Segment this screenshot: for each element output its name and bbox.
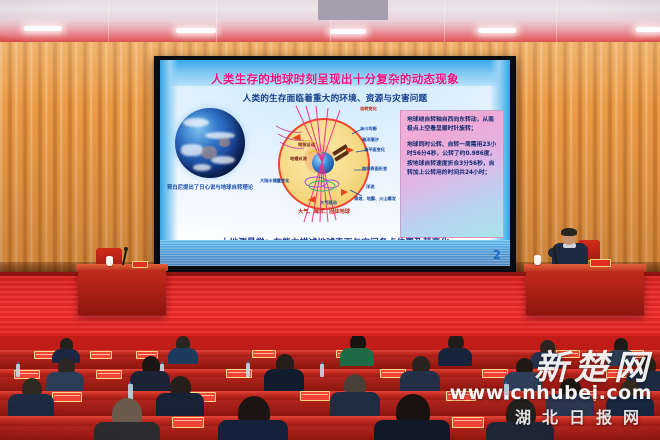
diagram-label: 地核运动 <box>298 142 315 148</box>
diagram-label: 大陆水储量变化 <box>260 178 289 184</box>
slide-text-panel: 地球绕自转轴自西向东转动，从南极点上空看呈顺时针旋转； 地球同时公转、自转一周需… <box>400 110 504 238</box>
panel-paragraph-1: 地球绕自转轴自西向东转动，从南极点上空看呈顺时针旋转； <box>407 116 498 135</box>
audience-body <box>264 369 304 393</box>
ceiling-vent <box>318 0 388 20</box>
earth-dynamics-diagram: 自转变化 冰川均衡 海洋潮汐 海平面变化 地球表面形变 洋流 滑坡、地震、火山爆… <box>256 104 392 224</box>
water-bottle <box>246 363 250 377</box>
diagram-label: 冰川均衡 <box>360 126 377 132</box>
audience-body <box>94 422 160 440</box>
watermark-brand: 新楚网 <box>414 340 654 388</box>
audience-body <box>130 371 170 393</box>
audience-nameplate <box>300 391 330 401</box>
microphone-head <box>124 247 128 251</box>
ceiling-light <box>176 28 216 33</box>
globe-caption: 哥白尼提出了日心说与地球自转理论 <box>166 184 254 192</box>
audience-nameplate <box>96 370 122 379</box>
water-cup <box>534 257 541 265</box>
watermark-site-name: 湖北日报网 <box>400 404 650 428</box>
audience-body <box>46 372 84 392</box>
diagram-rays <box>256 104 392 224</box>
slide-ocean-band <box>160 240 510 266</box>
audience-body <box>168 348 198 364</box>
podium-desk-left <box>78 270 166 315</box>
audience-nameplate <box>52 392 82 402</box>
slide-title: 人类生存的地球时刻呈现出十分复杂的动态现象 <box>160 71 510 87</box>
audience-body <box>8 394 54 418</box>
audience-body <box>340 348 374 366</box>
diagram-label: 大气驱动 <box>320 200 337 206</box>
slide-page-number: 2 <box>493 248 501 262</box>
diagram-label: 海平面变化 <box>364 147 385 153</box>
earth-globe-image <box>175 108 245 178</box>
water-bottle <box>16 364 20 377</box>
diagram-label: 地幔对流 <box>290 156 307 162</box>
water-cup <box>106 258 113 266</box>
diagram-label: 自转变化 <box>360 106 377 112</box>
diagram-bottom-label: 大气、海洋、固体地球 <box>272 208 376 215</box>
ceiling-light <box>24 26 62 31</box>
slide-subtitle: 人类的生存面临着重大的环境、资源与灾害问题 <box>160 92 510 104</box>
diagram-label: 海洋潮汐 <box>362 137 379 143</box>
audience-nameplate <box>252 350 276 358</box>
podium-nameplate <box>132 261 148 268</box>
ceiling-light <box>636 27 660 32</box>
audience-nameplate <box>90 351 112 359</box>
podium-desk-right <box>526 271 644 315</box>
audience-nameplate <box>172 417 204 428</box>
ceiling <box>0 0 660 44</box>
projection-screen[interactable]: 人类生存的地球时刻呈现出十分复杂的动态现象 人类的生存面临着重大的环境、资源与灾… <box>160 60 510 266</box>
podium-nameplate <box>590 259 611 267</box>
ceiling-light <box>330 29 366 34</box>
audience-body <box>218 420 288 440</box>
conference-hall-photo: 人类生存的地球时刻呈现出十分复杂的动态现象 人类的生存面临着重大的环境、资源与灾… <box>0 0 660 440</box>
panel-paragraph-2: 地球同时公转、自转一周需用23小时56分4秒，公转了约0.986度，按地球自转速… <box>407 141 498 179</box>
watermark-url: www.cnhubei.com <box>392 382 652 404</box>
water-bottle <box>320 364 324 377</box>
ceiling-light <box>478 28 516 33</box>
diagram-label: 滑坡、地震、火山爆发 <box>354 196 396 202</box>
diagram-label: 洋流 <box>366 184 374 190</box>
microphone-head <box>552 248 556 252</box>
diagram-label: 地球表面形变 <box>362 166 387 172</box>
speaker-hair <box>561 228 577 236</box>
